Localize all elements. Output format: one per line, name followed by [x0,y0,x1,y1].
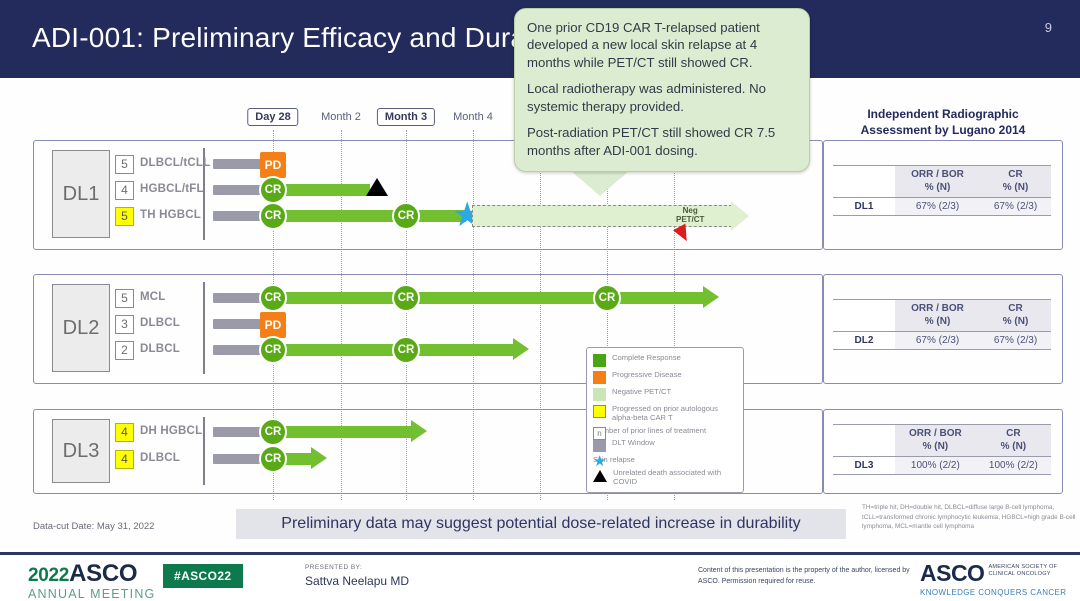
dl2-row3-dlt-window [213,345,261,355]
black-triangle-icon [593,470,607,482]
dl2-row1-histology: MCL [140,291,166,303]
dl2-row3-response-bar [266,344,516,356]
neg-petct-line1: Neg [683,206,698,215]
summary-banner-text: Preliminary data may suggest potential d… [281,515,800,533]
legend-label: Number of prior lines of treatment [593,426,706,435]
pale-green-square-icon [593,388,606,401]
dl1-col-blank [833,166,895,198]
number-box-icon: n [593,427,606,440]
results-section-title: Independent Radiographic Assessment by L… [843,106,1043,138]
dl2-row1-cr-marker-2: CR [392,284,420,312]
dl2-row-orr: 67% (2/3) [895,332,980,350]
dl2-row1-cr-marker-1: CR [259,284,287,312]
dl1-row2-dlt-window [213,185,261,195]
dl3-row2-prior-lines: 4 [115,450,134,469]
dl3-col-cr-l1: CR [1006,428,1020,439]
asco-year: 2022 [28,565,69,586]
dl1-row3-response-bar [266,210,466,222]
dl1-row3-prior-lines: 5 [115,207,134,226]
callout-paragraph-2: Local radiotherapy was administered. No … [527,80,797,115]
dl1-row1-histology: DLBCL/tCLL [140,157,210,169]
dl2-col-blank [833,300,895,332]
results-table-dl1: ORR / BOR % (N) CR % (N) DL1 67% (2/3) 6… [833,165,1051,216]
dl1-row1-pd-marker: PD [260,152,286,178]
dl2-row2-histology: DLBCL [140,317,180,329]
covid-death-triangle-icon [366,178,388,196]
table-row: DL1 67% (2/3) 67% (2/3) [833,198,1051,216]
dl1-row3-neg-petct-arrow-icon [731,201,749,231]
dl3-row-dose: DL3 [833,457,895,475]
legend-item-complete-response: Complete Response [593,353,737,367]
summary-banner: Preliminary data may suggest potential d… [236,509,846,539]
asco-logo-subtext: AMERICAN SOCIETY OFCLINICAL ONCOLOGY [988,564,1057,579]
dl1-col-orr-l1: ORR / BOR [911,169,964,180]
dl1-row2-cr-marker: CR [259,176,287,204]
dl1-row3-cr-marker-2: CR [392,202,420,230]
results-table-dl3: ORR / BOR % (N) CR % (N) DL3 100% (2/2) … [833,424,1051,475]
legend-label: DLT Window [612,438,655,447]
dose-level-label-dl3: DL3 [52,419,110,483]
annotation-callout: One prior CD19 CAR T-relapsed patient de… [514,8,810,172]
dl2-row1-dlt-window [213,293,261,303]
dl2-row3-prior-lines: 2 [115,341,134,360]
dl2-row3-cr-marker-1: CR [259,336,287,364]
dl1-row2-histology: HGBCL/tFL [140,183,204,195]
dl3-row1-dlt-window [213,427,261,437]
dl2-col-cr-l2: % (N) [1003,316,1029,327]
timeline-label-day28: Day 28 [247,108,298,126]
callout-paragraph-3: Post-radiation PET/CT still showed CR 7.… [527,124,797,159]
dl3-row2-arrow-icon [311,447,327,469]
asco-tagline: KNOWLEDGE CONQUERS CANCER [920,588,1066,597]
dl3-row1-response-bar [266,426,414,438]
asco-annual-meeting-logo: 2022ASCO ANNUAL MEETING [28,562,155,601]
copyright-notice: Content of this presentation is the prop… [698,566,923,587]
callout-paragraph-1: One prior CD19 CAR T-relapsed patient de… [527,19,797,71]
asco-sub-line1: AMERICAN SOCIETY OF [988,564,1057,570]
dl1-row-dose: DL1 [833,198,895,216]
dl2-col-orr: ORR / BOR % (N) [895,300,980,332]
slide-root: ADI-001: Preliminary Efficacy and Durabi… [0,0,1080,599]
dl3-col-cr-l2: % (N) [1001,441,1027,452]
dl2-col-orr-l2: % (N) [925,316,951,327]
dl2-row3-cr-marker-2: CR [392,336,420,364]
dl1-row-orr: 67% (2/3) [895,198,980,216]
legend-item-negative-petct: Negative PET/CT [593,387,737,401]
page-number: 9 [1045,20,1052,35]
dl2-row3-histology: DLBCL [140,343,180,355]
dl1-row3-dlt-window [213,211,261,221]
dose-level-label-dl1: DL1 [52,150,110,238]
timeline-label-month3: Month 3 [377,108,435,126]
legend-item-dlt-window: DLT Window [593,438,737,452]
neg-petct-line2: PET/CT [676,215,704,224]
dl3-col-orr: ORR / BOR % (N) [895,425,976,457]
dl3-row-orr: 100% (2/2) [895,457,976,475]
dl1-row1-dlt-window [213,159,261,169]
dl2-row1-prior-lines: 5 [115,289,134,308]
chart-legend: Complete Response Progressive Disease Ne… [586,347,744,493]
asco-sub-line2: CLINICAL ONCOLOGY [988,571,1050,577]
dl2-col-cr-l1: CR [1008,303,1022,314]
presenter-name: Sattva Neelapu MD [305,574,409,588]
dl1-col-cr: CR % (N) [980,166,1051,198]
results-title-line2: Assessment by Lugano 2014 [861,123,1026,137]
legend-item-skin-relapse: ★ Skin relapse [593,455,737,464]
legend-label: Progressed on prior autologous alpha-bet… [612,404,737,423]
timeline-label-month2: Month 2 [321,111,361,123]
dl1-row3-cr-marker-1: CR [259,202,287,230]
dl1-row1-prior-lines: 5 [115,155,134,174]
dl2-row1-cr-marker-3: CR [593,284,621,312]
table-row: DL3 100% (2/2) 100% (2/2) [833,457,1051,475]
dl1-row2-prior-lines: 4 [115,181,134,200]
dl2-row2-prior-lines: 3 [115,315,134,334]
dl3-row1-histology: DH HGBCL [140,425,202,437]
yellow-square-icon [593,405,606,418]
dl1-col-cr-l2: % (N) [1003,182,1029,193]
legend-label: Unrelated death associated with COVID [613,468,737,487]
legend-label: Progressive Disease [612,370,682,379]
legend-label: Complete Response [612,353,681,362]
abbreviations-footnote: TH=triple hit, DH=double hit, DLBCL=diff… [862,503,1076,532]
legend-item-progressive-disease: Progressive Disease [593,370,737,384]
dl3-row2-dlt-window [213,454,261,464]
asco-org-logo: ASCOAMERICAN SOCIETY OFCLINICAL ONCOLOGY… [920,560,1066,597]
dl3-row2-cr-marker: CR [259,445,287,473]
legend-item-covid-death: Unrelated death associated with COVID [593,468,737,487]
dose-level-label-dl2: DL2 [52,284,110,372]
dl1-col-orr: ORR / BOR % (N) [895,166,980,198]
legend-item-prior-lines: n Number of prior lines of treatment [593,426,737,435]
dl3-row-cr: 100% (2/2) [976,457,1051,475]
asco-logo-row: ASCOAMERICAN SOCIETY OFCLINICAL ONCOLOGY [920,560,1066,587]
dl2-row2-dlt-window [213,319,261,329]
timeline-label-month4: Month 4 [453,111,493,123]
dl1-row3-histology: TH HGBCL [140,209,201,221]
dl2-row3-arrow-icon [513,338,529,360]
dl3-row1-cr-marker: CR [259,418,287,446]
dl3-row2-histology: DLBCL [140,452,180,464]
asco-logo-line1: 2022ASCO [28,562,155,586]
asco-word: ASCO [69,560,137,587]
dl2-row1-response-bar [266,292,706,304]
dl2-row2-pd-marker: PD [260,312,286,338]
dl3-col-blank [833,425,895,457]
dl1-col-orr-l2: % (N) [925,182,951,193]
hashtag-badge: #ASCO22 [163,564,243,588]
gray-square-icon [593,439,606,452]
dl3-row1-prior-lines: 4 [115,423,134,442]
dl2-row-dose: DL2 [833,332,895,350]
dl3-row1-arrow-icon [411,420,427,442]
dl2-col-cr: CR % (N) [980,300,1051,332]
asco-logo-word: ASCO [920,560,984,586]
callout-tail [570,170,630,196]
presented-by-label: PRESENTED BY: [305,564,409,571]
results-title-line1: Independent Radiographic [867,107,1018,121]
legend-label: Negative PET/CT [612,387,671,396]
table-row: DL2 67% (2/3) 67% (2/3) [833,332,1051,350]
orange-square-icon [593,371,606,384]
dl1-row-cr: 67% (2/3) [980,198,1051,216]
blue-star-icon: ★ [593,456,606,469]
dl3-col-orr-l2: % (N) [923,441,949,452]
results-table-dl2: ORR / BOR % (N) CR % (N) DL2 67% (2/3) 6… [833,299,1051,350]
dl2-col-orr-l1: ORR / BOR [911,303,964,314]
dl2-axis-rule [203,282,205,374]
presenter-block: PRESENTED BY: Sattva Neelapu MD [305,564,409,588]
dl2-row1-arrow-icon [703,286,719,308]
green-square-icon [593,354,606,367]
data-cut-date: Data-cut Date: May 31, 2022 [33,521,154,532]
dl3-col-cr: CR % (N) [976,425,1051,457]
legend-item-prior-car-t: Progressed on prior autologous alpha-bet… [593,404,737,423]
dl3-col-orr-l1: ORR / BOR [909,428,962,439]
dl1-col-cr-l1: CR [1008,169,1022,180]
dl2-row-cr: 67% (2/3) [980,332,1051,350]
dl3-axis-rule [203,417,205,485]
neg-petct-label: Neg PET/CT [676,206,704,224]
